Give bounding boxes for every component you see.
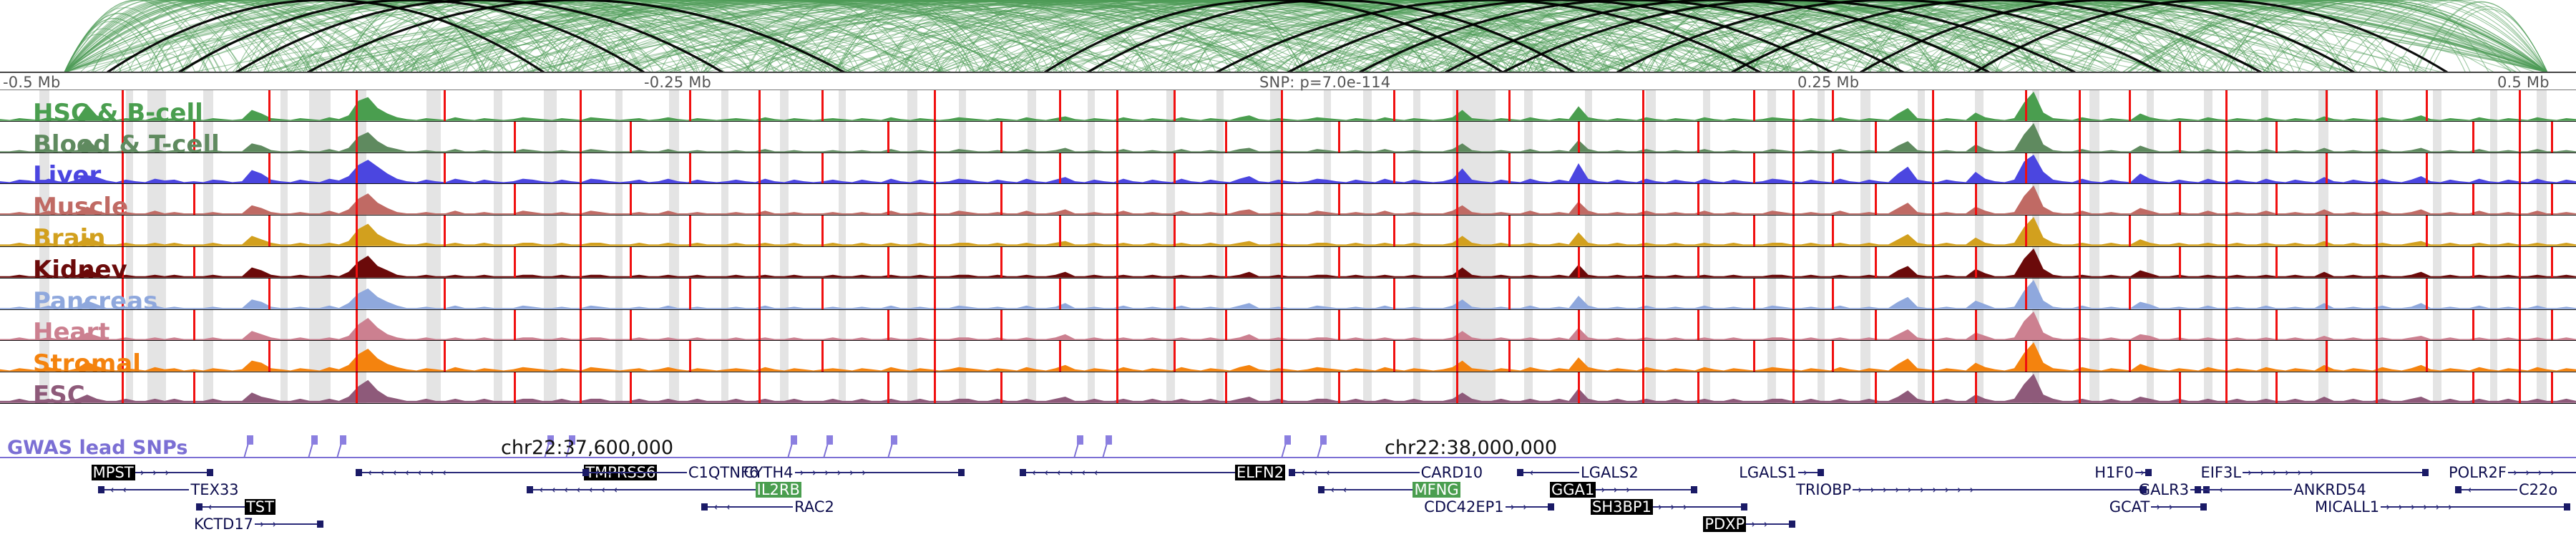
gene-body: → → — [1746, 519, 1795, 529]
gene-label: H1F0 — [2093, 465, 2135, 480]
gene-il2rb[interactable]: ← ← ← ← ← ← ← ← IL2RB — [527, 481, 801, 497]
gene-body: ← ← — [196, 502, 245, 512]
gene-exon — [2145, 469, 2152, 476]
gene-body: ← ← — [1517, 468, 1579, 478]
signal-track-liver[interactable]: Liver — [0, 153, 2576, 185]
signal-track-blood-t-cell[interactable]: Blood & T-cell — [0, 122, 2576, 153]
gene-label: TST — [245, 499, 275, 515]
gene-exon — [1818, 469, 1824, 476]
gene-exon — [2564, 503, 2570, 511]
gene-micall1[interactable]: MICALL1→ → → → → → — [2313, 498, 2570, 514]
axis-tick-label: 0.5 Mb — [2497, 74, 2550, 91]
gene-exon — [527, 486, 533, 493]
gene-body: → → — [255, 519, 323, 529]
gene-label: LGALS2 — [1579, 465, 1640, 480]
gene-strand-arrows: → → — [1746, 518, 1767, 531]
gene-sh3bp1[interactable]: SH3BP1→ → → — [1591, 498, 1747, 514]
gene-strand-arrows: → → → → → → — [2381, 500, 2451, 513]
gene-strand-arrows: ← ← ← ← ← ← ← ← — [356, 466, 452, 479]
gene-body: ← ← ← — [1318, 485, 1413, 495]
signal-profile — [0, 279, 2576, 309]
gene-label: CARD10 — [1420, 465, 1485, 480]
genomic-axis: -0.5 Mb -0.25 Mb SNP: p=7.0e-114 0.25 Mb… — [0, 72, 2576, 90]
coordinate-label: chr22:38,000,000 — [1385, 437, 1557, 459]
arc-svg — [0, 0, 2576, 73]
axis-snp-pvalue-label: SNP: p=7.0e-114 — [1259, 74, 1390, 91]
gene-exon — [1517, 469, 1523, 476]
signal-track-muscle[interactable]: Muscle — [0, 184, 2576, 216]
gene-strand-arrows: → → → — [1596, 483, 1629, 496]
gene-exon — [958, 469, 965, 476]
gene-strand-arrows: → → → — [135, 466, 169, 479]
gene-exon — [1289, 469, 1295, 476]
gwas-snp-marker[interactable] — [1077, 435, 1083, 445]
gwas-snp-marker[interactable] — [247, 435, 253, 445]
gene-body: ← ← ← ← ← ← ← ← — [356, 468, 584, 478]
axis-tick-label: -0.25 Mb — [644, 74, 711, 91]
gene-exon — [317, 521, 323, 528]
signal-profile — [0, 122, 2576, 153]
signal-profile — [0, 90, 2576, 121]
gene-cdc42ep1[interactable]: CDC42EP1→ → — [1423, 498, 1554, 514]
signal-track-hsc-b-cell[interactable]: HSC & B-cell — [0, 90, 2576, 122]
signal-track-brain[interactable]: Brain — [0, 216, 2576, 247]
signal-profile — [0, 247, 2576, 278]
gene-triobp[interactable]: TRIOBP→ → → → → → → → → → — [1795, 481, 2147, 497]
gwas-snp-marker[interactable] — [340, 435, 346, 445]
gene-label: C22o — [2517, 482, 2559, 498]
gene-label: MPST — [92, 465, 135, 480]
gene-strand-arrows: ← ← ← ← ← ← ← — [1020, 466, 1103, 479]
gene-body: → → → — [135, 468, 213, 478]
gene-label: POLR2F — [2447, 465, 2508, 480]
gene-elfn2[interactable]: ← ← ← ← ← ← ← ELFN2 — [1020, 464, 1285, 480]
gene-exon — [1318, 486, 1324, 493]
gene-label: RAC2 — [793, 499, 836, 515]
gene-polr2f[interactable]: POLR2F→ → → → — [2447, 464, 2576, 480]
gene-body: ← ← ← ← — [1289, 468, 1419, 478]
gene-exon — [1020, 469, 1026, 476]
gwas-snp-marker[interactable] — [1320, 435, 1327, 445]
signal-track-stromal[interactable]: Stromal — [0, 341, 2576, 372]
gene-exon — [356, 469, 362, 476]
axis-tick-label: -0.5 Mb — [3, 74, 61, 91]
gene-strand-arrows: ← ← ← ← — [1289, 466, 1335, 479]
gwas-snp-marker[interactable] — [791, 435, 797, 445]
gene-exon — [1691, 486, 1697, 493]
gene-eif3l[interactable]: EIF3L→ → → → → → — [2199, 464, 2429, 480]
gene-label: GGA1 — [1550, 482, 1596, 498]
gene-body: → — [1798, 468, 1824, 478]
gene-annotation-track: MPST→ → → ← ← ← TEX33← ← TSTKCTD17→ → ← … — [0, 464, 2576, 537]
gene-body: → — [2135, 468, 2152, 478]
coordinate-label: chr22:37,600,000 — [501, 437, 673, 459]
gwas-snp-marker[interactable] — [891, 435, 897, 445]
gene-exon — [98, 486, 104, 493]
gene-body: ← ← ← ← ← ← ← ← — [527, 485, 755, 495]
gene-body: → → → → → → — [2381, 502, 2570, 512]
gene-card10[interactable]: ← ← ← ← CARD10 — [1289, 464, 1484, 480]
gene-exon — [1789, 521, 1795, 528]
axis-tick-label: 0.25 Mb — [1797, 74, 1859, 91]
gwas-lead-snp-track: GWAS lead SNPs — [0, 435, 2576, 464]
gene-label: TEX33 — [189, 482, 240, 498]
gene-strand-arrows: → → — [2151, 500, 2172, 513]
gene-h1f0[interactable]: H1F0→ — [2093, 464, 2151, 480]
gene-body: → → — [1506, 502, 1554, 512]
signal-profile — [0, 216, 2576, 246]
gene-body: → → → → → → — [2243, 468, 2429, 478]
signal-profile — [0, 153, 2576, 184]
gene-label: GCAT — [2108, 499, 2152, 515]
gene-label: MFNG — [1413, 482, 1460, 498]
gene-label: PDXP — [1703, 516, 1746, 532]
gene-exon — [582, 469, 589, 476]
gwas-snp-marker[interactable] — [826, 435, 833, 445]
signal-profile — [0, 310, 2576, 341]
gene-label: ANKRD54 — [2292, 482, 2367, 498]
gene-body: ← ← ← — [2195, 485, 2293, 495]
gene-pdxp[interactable]: PDXP→ → — [1703, 516, 1795, 531]
gene-body: → → → — [1596, 485, 1697, 495]
gene-label: CDC42EP1 — [1423, 499, 1506, 515]
gene-body: ← ← ← — [701, 502, 793, 512]
gene-gga1[interactable]: GGA1→ → → — [1550, 481, 1697, 497]
gene-strand-arrows: → → — [1506, 500, 1527, 513]
gene-lgals2[interactable]: ← ← LGALS2 — [1517, 464, 1639, 480]
gene-body: ← ← ← ← ← ← ← — [1020, 468, 1235, 478]
gene-label: IL2RB — [756, 482, 801, 498]
gene-c1qtnf6[interactable]: ← ← ← ← C1QTNF6 — [582, 464, 760, 480]
gene-gcat[interactable]: GCAT→ → — [2108, 498, 2207, 514]
gene-cyth4[interactable]: CYTH4→ → → → → → — [742, 464, 964, 480]
gene-body: → → — [2151, 502, 2207, 512]
interaction-arc-panel — [0, 0, 2576, 73]
gene-exon — [207, 469, 213, 476]
gene-exon — [1548, 503, 1554, 511]
gene-ankrd54[interactable]: ← ← ← ANKRD54 — [2195, 481, 2368, 497]
signal-track-kidney[interactable]: Kidney — [0, 247, 2576, 279]
gene-label: MICALL1 — [2313, 499, 2381, 515]
gene-body: → → → → → → → → → → — [1853, 485, 2146, 495]
gene-c22o[interactable]: ← ← C22o — [2455, 481, 2559, 497]
gene-strand-arrows: → → → → → → — [2243, 466, 2313, 479]
gene-mfng[interactable]: ← ← ← MFNG — [1318, 481, 1460, 497]
signal-track-stack: HSC & B-cellBlood & T-cellLiverMuscleBra… — [0, 90, 2576, 435]
gene-label: TRIOBP — [1795, 482, 1853, 498]
gene-body: → → → → → → — [795, 468, 965, 478]
gene-label: LGALS1 — [1737, 465, 1798, 480]
green-arc-group — [64, 0, 2547, 72]
gene-label: CYTH4 — [742, 465, 794, 480]
gene-strand-arrows: → — [1798, 466, 1807, 479]
gene-strand-arrows: → → → → → → — [795, 466, 866, 479]
gene-exon — [196, 503, 203, 511]
gene-strand-arrows: ← ← ← ← ← ← ← ← — [527, 483, 623, 496]
gene-body: ← ← ← ← — [582, 468, 687, 478]
gene-tex33[interactable]: ← ← ← TEX33 — [98, 481, 240, 497]
signal-track-pancreas[interactable]: Pancreas — [0, 279, 2576, 310]
gene-exon — [2455, 486, 2462, 493]
gene-strand-arrows: → → → → — [2508, 466, 2555, 479]
gene-tst[interactable]: ← ← TST — [196, 498, 275, 514]
gene-body: ← ← ← — [98, 485, 190, 495]
gene-exon — [2200, 503, 2207, 511]
gene-exon — [2195, 486, 2201, 493]
gene-lgals1[interactable]: LGALS1→ — [1737, 464, 1824, 480]
gwas-snp-marker[interactable] — [311, 435, 318, 445]
gene-exon — [701, 503, 708, 511]
signal-track-esc[interactable]: ESC — [0, 372, 2576, 404]
gene-exon — [2422, 469, 2429, 476]
gene-kctd17[interactable]: KCTD17→ → — [192, 516, 323, 531]
gene-strand-arrows: ← ← ← ← — [582, 466, 629, 479]
gwas-baseline — [0, 457, 2576, 458]
gene-body: → → → → — [2508, 468, 2576, 478]
gene-strand-arrows: → → → — [1653, 500, 1687, 513]
gene-label: SH3BP1 — [1591, 499, 1653, 515]
gene-mpst[interactable]: MPST→ → → — [92, 464, 213, 480]
gene-strand-arrows: → — [2135, 466, 2145, 479]
signal-profile — [0, 184, 2576, 215]
gwas-snp-marker[interactable] — [1284, 435, 1291, 445]
signal-profile — [0, 372, 2576, 403]
gene-body: → → → — [1653, 502, 1747, 512]
gene-label: KCTD17 — [192, 516, 255, 532]
gene-label: ELFN2 — [1235, 465, 1285, 480]
signal-track-heart[interactable]: Heart — [0, 310, 2576, 342]
gene-label: GALR3 — [2137, 482, 2190, 498]
gene-strand-arrows: → → → → → → → → → → — [1853, 483, 1974, 496]
signal-profile — [0, 341, 2576, 372]
gene-exon — [1741, 503, 1747, 511]
gene-body: ← ← — [2455, 485, 2517, 495]
gene-strand-arrows: → → — [255, 518, 276, 531]
gwas-track-label: GWAS lead SNPs — [7, 437, 187, 459]
gene-label: EIF3L — [2199, 465, 2243, 480]
gwas-snp-marker[interactable] — [1106, 435, 1112, 445]
gene-rac2[interactable]: ← ← ← RAC2 — [701, 498, 835, 514]
